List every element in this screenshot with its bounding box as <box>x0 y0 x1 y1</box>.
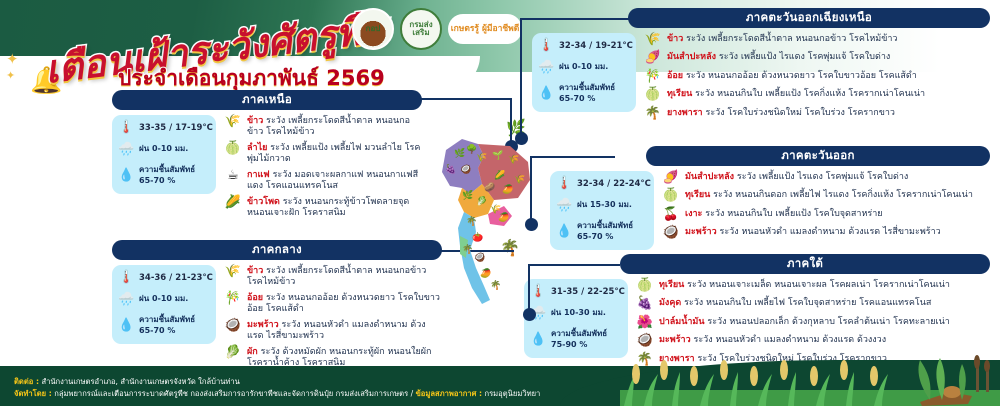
svg-text:🌱: 🌱 <box>492 150 503 161</box>
crop-warning: ระวัง หนอนกินดอก เพลี้ยไฟ ไรแดง โรคกิ่งแ… <box>713 190 973 200</box>
svg-text:🌾: 🌾 <box>476 152 487 163</box>
crop-warning: ระวัง เพลี้ยแป้ง เพลี้ยไฟ มวนลำไย โรคพุ่… <box>247 143 420 164</box>
oilpalm-icon: 🌺 <box>636 316 654 331</box>
rain-cloud-icon: 🌧️ <box>118 143 134 156</box>
footer-weather-source-body: กรมอุตุนิยมวิทยา <box>485 389 541 398</box>
crop-row: 🌴 ยางพารา ระวัง โรคใบร่วงชนิดใหม่ โรคใบร… <box>644 107 990 122</box>
durian-icon: 🍈 <box>636 279 654 294</box>
rice-icon: 🌾 <box>644 33 662 48</box>
crop-list-north: 🌾 ข้าว ระวัง เพลี้ยกระโดดสีน้ำตาล หนอนกอ… <box>224 115 422 223</box>
weather-humidity-row: 💧 ความชื้นสัมพัทธ์ 65-70 % <box>118 315 208 337</box>
weather-humidity-label: ความชื้นสัมพัทธ์ <box>139 165 195 174</box>
region-title-central: ภาคกลาง <box>112 240 442 260</box>
rain-cloud-icon: 🌧️ <box>118 293 134 306</box>
thailand-map-svg: 🌿🌳 🍇🥥 🌾🌱 🌾🌽 🌾🥔 🥭🌿 🥬🌾 🥭🌴 🍅🌴 🥥🥭 🌴 <box>432 128 544 313</box>
cassava-icon: 🍠 <box>662 171 680 186</box>
svg-text:🥥: 🥥 <box>474 251 485 263</box>
weather-humidity-row: 💧 ความชื้นสัมพัทธ์ 65-70 % <box>538 83 628 105</box>
region-panel-northeast: ภาคตะวันออกเฉียงเหนือ 🌡️ 32-34 / 19-21°C… <box>628 8 990 125</box>
svg-text:🌿: 🌿 <box>454 147 465 159</box>
weather-rain-value: ฝน 0-10 มม. <box>139 144 188 155</box>
weather-humidity-row: 💧 ความชื้นสัมพัทธ์ 75-90 % <box>530 329 620 351</box>
crop-warning: ระวัง หนอนกินใบ เพลี้ยแป้ง โรคกิ่งแห้ง โ… <box>695 89 925 99</box>
connector-northeast-horizontal <box>520 18 630 20</box>
coffee-icon: ☕ <box>224 169 242 184</box>
rice-icon: 🌾 <box>224 115 242 130</box>
weather-humidity-value: ความชื้นสัมพัทธ์ 65-70 % <box>577 221 633 243</box>
weather-rain-value: ฝน 10-30 มม. <box>551 308 606 319</box>
weather-rain-row: 🌧️ ฝน 0-10 มม. <box>118 293 208 306</box>
lychee-icon: 🍒 <box>662 208 680 223</box>
footer-producer-line: จัดทำโดย : กลุ่มพยากรณ์และเตือนการระบาดศ… <box>14 388 540 400</box>
svg-text:🥥: 🥥 <box>460 163 471 175</box>
crop-warning: ระวัง หนอนกออ้อย ด้วงหนวดยาว โรคใบขาวอ้อ… <box>686 71 917 81</box>
crop-name: ทุเรียน <box>667 89 692 99</box>
infographic-poster: ✦✦ 🔔 เตือนเฝ้าระวังศัตรูพืช ประจำเดือนกุ… <box>0 0 1000 406</box>
grass-svg <box>620 354 1000 406</box>
crop-warning: ระวัง หนอนกออ้อย ด้วงหนวดยาว โรคใบขาวอ้อ… <box>247 293 440 314</box>
weather-temperature-value: 31-35 / 22-25°C <box>551 287 625 297</box>
mangosteen-icon: 🍇 <box>636 297 654 312</box>
region-title-northeast: ภาคตะวันออกเฉียงเหนือ <box>628 8 990 28</box>
region-title-south: ภาคใต้ <box>620 254 990 274</box>
crop-name: อ้อย <box>667 71 683 81</box>
weather-box-northeast: 🌡️ 32-34 / 19-21°C 🌧️ ฝน 0-10 มม. 💧 ความ… <box>532 33 636 112</box>
footer-contact-line: ติดต่อ : สำนักงานเกษตรอำเภอ, สำนักงานเกษ… <box>14 376 540 388</box>
crop-row: 🥥 มะพร้าว ระวัง หนอนหัวดำ แมลงดำหนาม ด้ว… <box>662 226 990 241</box>
weather-humidity-value: ความชื้นสัมพัทธ์ 75-90 % <box>551 329 607 351</box>
weather-humidity-value: ความชื้นสัมพัทธ์ 65-70 % <box>559 83 615 105</box>
crop-row: 🌺 ปาล์มน้ำมัน ระวัง หนอนปลอกเล็ก ด้วงกุห… <box>636 316 990 331</box>
footer-contact-label: ติดต่อ : <box>14 377 39 386</box>
gap-logo: กอป <box>352 8 394 50</box>
crop-name: ข้าว <box>247 266 263 276</box>
crop-name: มะพร้าว <box>247 320 279 330</box>
water-drop-icon: 💧 <box>530 333 546 346</box>
weather-box-east: 🌡️ 32-34 / 22-24°C 🌧️ ฝน 15-30 มม. 💧 ควา… <box>550 171 654 250</box>
crop-row: 🍈 ทุเรียน ระวัง หนอนกินดอก เพลี้ยไฟ ไรแด… <box>662 189 990 204</box>
durian-icon: 🍈 <box>644 88 662 103</box>
water-drop-icon: 💧 <box>538 87 554 100</box>
crop-warning: ระวัง หนอนหัวดำ แมลงดำหนาม ด้วงแรด ไรสี่… <box>720 227 941 237</box>
crop-row: 🌽 ข้าวโพด ระวัง หนอนกระทู้ข้าวโพดลายจุด … <box>224 196 422 220</box>
weather-rain-value: ฝน 0-10 มม. <box>559 62 608 73</box>
svg-text:🌴: 🌴 <box>462 243 473 255</box>
weather-rain-value: ฝน 15-30 มม. <box>577 200 632 211</box>
weather-humidity-value: ความชื้นสัมพัทธ์ 65-70 % <box>139 315 195 337</box>
thermometer-icon: 🌡️ <box>538 39 554 52</box>
crop-name: กาแฟ <box>247 170 270 180</box>
crop-name: ทุเรียน <box>659 280 684 290</box>
svg-text:🥔: 🥔 <box>484 181 495 193</box>
weather-humidity-label: ความชื้นสัมพัทธ์ <box>139 315 195 324</box>
region-panel-north: ภาคเหนือ 🌡️ 33-35 / 17-19°C 🌧️ ฝน 0-10 ม… <box>112 90 422 223</box>
weather-humidity-number: 65-70 % <box>139 326 175 335</box>
crop-name: ข้าว <box>667 34 683 44</box>
rubber-icon: 🌴 <box>644 107 662 122</box>
weather-humidity-label: ความชื้นสัมพัทธ์ <box>551 329 607 338</box>
svg-text:🍇: 🍇 <box>445 163 456 175</box>
crop-name: มะพร้าว <box>685 227 717 237</box>
weather-humidity-value: ความชื้นสัมพัทธ์ 65-70 % <box>139 165 195 187</box>
sugarcane-icon: 🎋 <box>644 70 662 85</box>
weather-temperature-value: 33-35 / 17-19°C <box>139 123 213 133</box>
crop-warning: ระวัง หนอนหัวดำ แมลงดำหนาม ด้วงแรด ด้วงง… <box>694 335 887 345</box>
crop-warning: ระวัง เพลี้ยกระโดดสีน้ำตาล หนอนกอข้าว โร… <box>247 116 410 137</box>
longan-icon: 🍈 <box>224 142 242 157</box>
crop-row: 🍠 มันสำปะหลัง ระวัง เพลี้ยแป้ง ไรแดง โรค… <box>644 51 990 66</box>
crop-list-east: 🍠 มันสำปะหลัง ระวัง เพลี้ยแป้ง ไรแดง โรค… <box>662 171 990 245</box>
crop-name: มันสำปะหลัง <box>667 52 716 62</box>
smart-farmer-logo: เกษตรรู้ ผู้มีอาชีพดี <box>448 14 522 44</box>
weather-temperature-row: 🌡️ 34-36 / 21-23°C <box>118 271 208 284</box>
durian-icon: 🍈 <box>662 189 680 204</box>
region-title-east: ภาคตะวันออก <box>646 146 990 166</box>
weather-humidity-number: 65-70 % <box>139 176 175 185</box>
crop-warning: ระวัง เพลี้ยแป้ง ไรแดง โรคพุ่มแจ้ โรคใบด… <box>737 172 908 182</box>
weather-rain-row: 🌧️ ฝน 0-10 มม. <box>118 143 208 156</box>
department-seal-logo: กรมส่งเสริม <box>400 8 442 50</box>
crop-list-northeast: 🌾 ข้าว ระวัง เพลี้ยกระโดดสีน้ำตาล หนอนกอ… <box>644 33 990 125</box>
svg-text:🥭: 🥭 <box>502 183 513 195</box>
svg-text:🌾: 🌾 <box>514 174 525 185</box>
weather-box-central: 🌡️ 34-36 / 21-23°C 🌧️ ฝน 0-10 มม. 💧 ความ… <box>112 265 216 344</box>
weather-temperature-value: 32-34 / 22-24°C <box>577 179 651 189</box>
crop-row: 🌾 ข้าว ระวัง เพลี้ยกระโดดสีน้ำตาล หนอนกอ… <box>224 265 442 289</box>
weather-box-north: 🌡️ 33-35 / 17-19°C 🌧️ ฝน 0-10 มม. 💧 ความ… <box>112 115 216 194</box>
crop-row: 🍒 เงาะ ระวัง หนอนกินใบ เพลี้ยแป้ง โรคใบจ… <box>662 208 990 223</box>
crop-name: มังคุด <box>659 298 681 308</box>
weather-rain-row: 🌧️ ฝน 0-10 มม. <box>538 61 628 74</box>
sugarcane-icon: 🎋 <box>224 292 242 307</box>
weather-temperature-row: 🌡️ 33-35 / 17-19°C <box>118 121 208 134</box>
cassava-icon: 🍠 <box>644 51 662 66</box>
svg-text:🥭: 🥭 <box>480 267 491 279</box>
weather-humidity-row: 💧 ความชื้นสัมพัทธ์ 65-70 % <box>118 165 208 187</box>
logo-group: กอป กรมส่งเสริม เกษตรรู้ ผู้มีอาชีพดี <box>352 8 522 50</box>
weather-temperature-row: 🌡️ 32-34 / 19-21°C <box>538 39 628 52</box>
crop-warning: ระวัง โรคใบร่วงชนิดใหม่ โรคใบร่วง โรคราก… <box>705 108 895 118</box>
weather-humidity-label: ความชื้นสัมพัทธ์ <box>559 83 615 92</box>
crop-name: ข้าว <box>247 116 263 126</box>
thermometer-icon: 🌡️ <box>118 121 134 134</box>
coconut-icon: 🥥 <box>636 334 654 349</box>
crop-name: ปาล์มน้ำมัน <box>659 317 705 327</box>
crop-row: 🥥 มะพร้าว ระวัง หนอนหัวดำ แมลงดำหนาม ด้ว… <box>636 334 990 349</box>
weather-temperature-value: 34-36 / 21-23°C <box>139 273 213 283</box>
svg-text:🌴: 🌴 <box>466 215 477 227</box>
crop-row: 🍇 มังคุด ระวัง หนอนกินใบ เพลี้ยไฟ โรคใบจ… <box>636 297 990 312</box>
crop-row: 🍈 ทุเรียน ระวัง หนอนกินใบ เพลี้ยแป้ง โรค… <box>644 88 990 103</box>
weather-humidity-number: 75-90 % <box>551 340 587 349</box>
footer-producer-body: กลุ่มพยากรณ์และเตือนการระบาดศัตรูพืช กอง… <box>54 389 413 398</box>
crop-warning: ระวัง เพลี้ยกระโดดสีน้ำตาล หนอนกอข้าว โร… <box>686 34 897 44</box>
crop-row: 🌾 ข้าว ระวัง เพลี้ยกระโดดสีน้ำตาล หนอนกอ… <box>224 115 422 139</box>
weather-rain-row: 🌧️ ฝน 15-30 มม. <box>556 199 646 212</box>
crop-name: เงาะ <box>685 209 702 219</box>
crop-warning: ระวัง หนอนปลอกเล็ก ด้วงกุหลาบ โรคลำต้นเน… <box>707 317 949 327</box>
rain-cloud-icon: 🌧️ <box>538 61 554 74</box>
footer-contact-body: สำนักงานเกษตรอำเภอ, สำนักงานเกษตรจังหวัด… <box>41 377 239 386</box>
crop-row: 🥥 มะพร้าว ระวัง หนอนหัวดำ แมลงดำหนาม ด้ว… <box>224 319 442 343</box>
crop-name: อ้อย <box>247 293 263 303</box>
weather-rain-value: ฝน 0-10 มม. <box>139 294 188 305</box>
footer-text-block: ติดต่อ : สำนักงานเกษตรอำเภอ, สำนักงานเกษ… <box>14 376 540 400</box>
crop-warning: ระวัง เพลี้ยกระโดดสีน้ำตาล หนอนกอข้าว โร… <box>247 266 426 287</box>
thermometer-icon: 🌡️ <box>556 177 572 190</box>
crop-name: มะพร้าว <box>659 335 691 345</box>
crop-warning: ระวัง หนอนเจาะเมล็ด หนอนเจาะผล โรคผลเน่า… <box>687 280 950 290</box>
crop-name: ข้าวโพด <box>247 197 280 207</box>
footer-producer-label: จัดทำโดย : <box>14 389 52 398</box>
crop-name: มันสำปะหลัง <box>685 172 734 182</box>
crop-warning: ระวัง หนอนกินใบ เพลี้ยไฟ โรคใบจุดสาหร่าย… <box>684 298 931 308</box>
crop-name: ลำไย <box>247 143 267 153</box>
weather-humidity-number: 65-70 % <box>559 94 595 103</box>
svg-text:🌽: 🌽 <box>494 169 505 181</box>
sparkle-icon: ✦✦ <box>6 52 19 82</box>
vegetable-icon: 🥬 <box>224 346 242 361</box>
svg-text:🍅: 🍅 <box>472 231 483 243</box>
crop-name: ผัก <box>247 347 258 357</box>
connector-northeast-vertical <box>520 18 522 138</box>
crop-row: 🎋 อ้อย ระวัง หนอนกออ้อย ด้วงหนวดยาว โรคใ… <box>224 292 442 316</box>
crop-row: 🎋 อ้อย ระวัง หนอนกออ้อย ด้วงหนวดยาว โรคใ… <box>644 70 990 85</box>
water-drop-icon: 💧 <box>118 169 134 182</box>
weather-humidity-row: 💧 ความชื้นสัมพัทธ์ 65-70 % <box>556 221 646 243</box>
rain-cloud-icon: 🌧️ <box>556 199 572 212</box>
svg-text:🥭: 🥭 <box>498 211 509 223</box>
svg-text:🥬: 🥬 <box>476 195 487 207</box>
water-drop-icon: 💧 <box>556 225 572 238</box>
region-title-north: ภาคเหนือ <box>112 90 422 110</box>
water-drop-icon: 💧 <box>118 319 134 332</box>
rice-icon: 🌾 <box>224 265 242 280</box>
crop-warning: ระวัง เพลี้ยแป้ง ไรแดง โรคพุ่มแจ้ โรคใบด… <box>719 52 890 62</box>
crop-row: ☕ กาแฟ ระวัง มอดเจาะผลกาแฟ หนอนกาแฟสีแดง… <box>224 169 422 193</box>
svg-text:🌾: 🌾 <box>508 154 519 165</box>
crop-warning: ระวัง มอดเจาะผลกาแฟ หนอนกาแฟสีแดง โรคแอน… <box>247 170 418 191</box>
thailand-map: 🌿🌳 🍇🥥 🌾🌱 🌾🌽 🌾🥔 🥭🌿 🥬🌾 🥭🌴 🍅🌴 🥥🥭 🌴 <box>432 128 544 313</box>
svg-text:🌴: 🌴 <box>490 279 501 291</box>
weather-humidity-number: 65-70 % <box>577 232 613 241</box>
coconut-icon: 🥥 <box>662 226 680 241</box>
crop-name: ทุเรียน <box>685 190 710 200</box>
weather-temperature-value: 32-34 / 19-21°C <box>559 41 633 51</box>
corn-icon: 🌽 <box>224 196 242 211</box>
thermometer-icon: 🌡️ <box>118 271 134 284</box>
crop-name: ยางพารา <box>667 108 703 118</box>
grass-decoration <box>620 354 1000 406</box>
region-panel-east: ภาคตะวันออก 🌡️ 32-34 / 22-24°C 🌧️ ฝน 15-… <box>646 146 990 245</box>
crop-row: 🍈 ทุเรียน ระวัง หนอนเจาะเมล็ด หนอนเจาะผล… <box>636 279 990 294</box>
coconut-icon: 🥥 <box>224 319 242 334</box>
weather-humidity-label: ความชื้นสัมพัทธ์ <box>577 221 633 230</box>
footer-weather-source-label: ข้อมูลสภาพอากาศ : <box>416 389 483 398</box>
crop-row: 🍈 ลำไย ระวัง เพลี้ยแป้ง เพลี้ยไฟ มวนลำไย… <box>224 142 422 166</box>
crop-row: 🍠 มันสำปะหลัง ระวัง เพลี้ยแป้ง ไรแดง โรค… <box>662 171 990 186</box>
crop-warning: ระวัง หนอนกินใบ เพลี้ยแป้ง โรคใบจุดสาหร่… <box>705 209 882 219</box>
weather-temperature-row: 🌡️ 32-34 / 22-24°C <box>556 177 646 190</box>
svg-text:🌿: 🌿 <box>462 189 473 201</box>
crop-row: 🌾 ข้าว ระวัง เพลี้ยกระโดดสีน้ำตาล หนอนกอ… <box>644 33 990 48</box>
